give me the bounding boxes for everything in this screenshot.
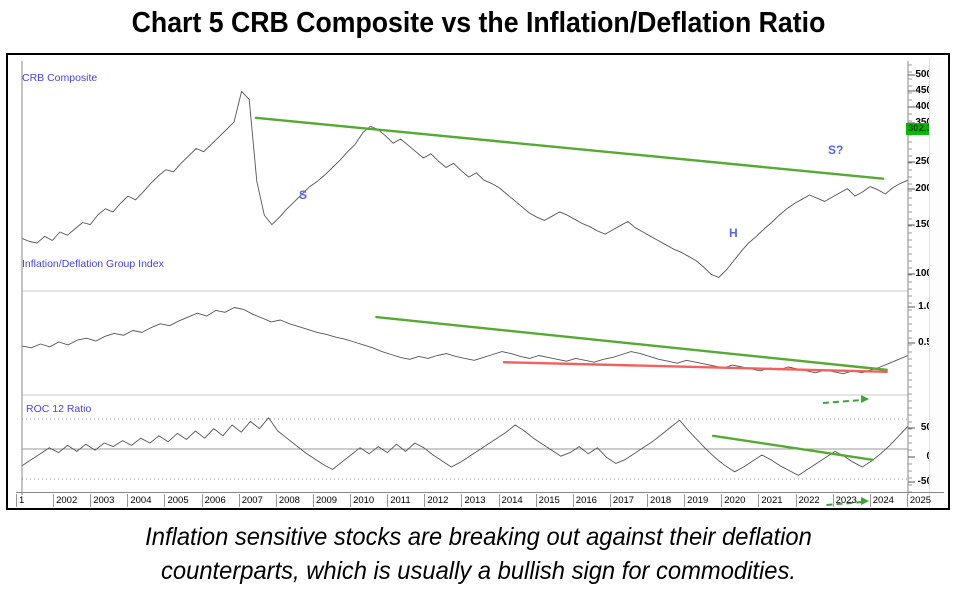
chart-page: Chart 5 CRB Composite vs the Inflation/D… xyxy=(0,0,957,605)
x-axis-year-label: 2017 xyxy=(610,494,648,507)
price-chart-svg xyxy=(8,55,948,508)
annotation-shoulder-left: S xyxy=(299,188,307,202)
x-axis-year-label: 2024 xyxy=(870,494,908,507)
x-axis-year-label: 2019 xyxy=(684,494,722,507)
ytick-top-100: 100 xyxy=(892,268,932,279)
vertical-scrollbar[interactable] xyxy=(929,57,946,506)
ytick-top-250: 250 xyxy=(892,156,932,167)
panel-label-crb-composite: CRB Composite xyxy=(22,72,97,84)
x-axis-year-label: 2008 xyxy=(276,494,314,507)
chart-frame: CRB Composite Inflation/Deflation Group … xyxy=(6,53,950,510)
x-axis-year-label: 2015 xyxy=(536,494,574,507)
ytick-top-200: 200 xyxy=(892,183,932,194)
ytick-top-400: 400 xyxy=(892,101,932,112)
x-axis-year-label: 2023 xyxy=(833,494,871,507)
chart-inner: CRB Composite Inflation/Deflation Group … xyxy=(8,55,948,508)
x-axis-year-label: 2007 xyxy=(239,494,277,507)
x-axis-year-label: 2010 xyxy=(350,494,388,507)
x-axis-year-label: 2011 xyxy=(387,494,425,507)
ytick-mid-1-0: 1.0 xyxy=(892,301,932,312)
x-axis-year-label: 2002 xyxy=(53,494,91,507)
caption-line-2: counterparts, which is usually a bullish… xyxy=(24,554,933,588)
annotation-head: H xyxy=(729,226,738,240)
x-axis-year-label: 2020 xyxy=(721,494,759,507)
ytick-mid-0-5: 0.5 xyxy=(892,337,932,348)
ytick-bot-0: 0 xyxy=(892,451,932,462)
panel-label-roc-12-ratio: ROC 12 Ratio xyxy=(26,403,91,415)
x-axis-year-label: 2021 xyxy=(758,494,796,507)
ytick-top-150: 150 xyxy=(892,219,932,230)
x-axis-year-label: 2004 xyxy=(127,494,165,507)
page-title: Chart 5 CRB Composite vs the Inflation/D… xyxy=(38,2,918,44)
caption-line-1: Inflation sensitive stocks are breaking … xyxy=(24,520,933,554)
x-axis-year-label: 2022 xyxy=(796,494,834,507)
x-axis-year-label: 2016 xyxy=(573,494,611,507)
x-axis-year-label: 2009 xyxy=(313,494,351,507)
x-axis-year-label: 2012 xyxy=(424,494,462,507)
x-axis-year-label: 1 xyxy=(16,494,54,507)
x-axis-year-label: 2006 xyxy=(202,494,240,507)
x-axis-years: 1200220032004200520062007200820092010201… xyxy=(16,492,944,508)
x-axis-year-label: 2005 xyxy=(164,494,202,507)
ytick-bot-50: 50 xyxy=(892,422,932,433)
ytick-top-500: 500 xyxy=(892,69,932,80)
ytick-bot-minus-50: -50 xyxy=(892,476,932,487)
x-axis-year-label: 2003 xyxy=(90,494,128,507)
x-axis-year-label: 2025 xyxy=(907,494,945,507)
x-axis-year-label: 2014 xyxy=(499,494,537,507)
panel-label-inflation-deflation: Inflation/Deflation Group Index xyxy=(22,258,164,270)
x-axis-year-label: 2013 xyxy=(461,494,499,507)
x-axis-year-label: 2018 xyxy=(647,494,685,507)
annotation-shoulder-right: S? xyxy=(828,143,843,157)
chart-caption: Inflation sensitive stocks are breaking … xyxy=(24,520,933,588)
ytick-top-450: 450 xyxy=(892,85,932,96)
